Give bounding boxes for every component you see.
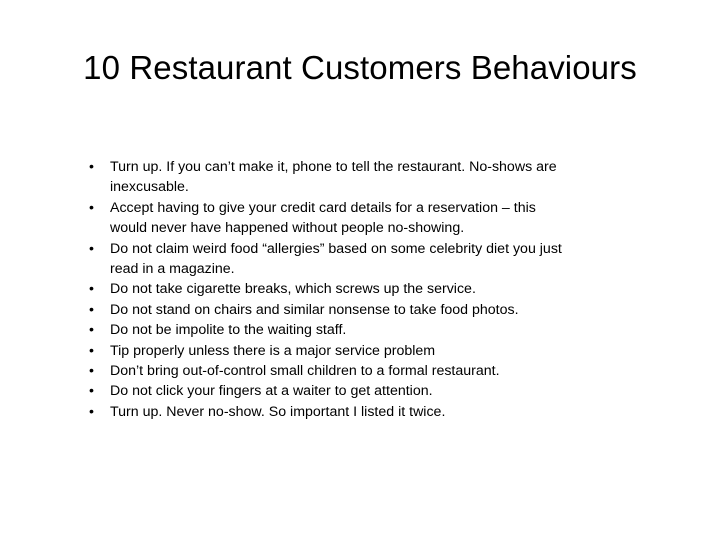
page-title: 10 Restaurant Customers Behaviours [52, 48, 668, 88]
list-item: • Don’t bring out-of-control small child… [86, 361, 656, 381]
list-item: • Do not claim weird food “allergies” ba… [86, 239, 656, 280]
bullet-point-icon: • [89, 320, 101, 340]
list-item: • Do not take cigarette breaks, which sc… [86, 279, 656, 299]
bullet-point-icon: • [89, 239, 101, 259]
list-item-text: Do not be impolite to the waiting staff. [110, 320, 656, 340]
bullet-point-icon: • [89, 198, 101, 218]
list-item-text: Do not click your fingers at a waiter to… [110, 381, 656, 401]
slide-content-body: • Turn up. If you can’t make it, phone t… [86, 157, 656, 422]
slide-canvas: 10 Restaurant Customers Behaviours • Tur… [0, 0, 720, 540]
list-item-text: Tip properly unless there is a major ser… [110, 341, 656, 361]
list-item-text: Don’t bring out-of-control small childre… [110, 361, 656, 381]
bullet-point-icon: • [89, 279, 101, 299]
bullet-list: • Turn up. If you can’t make it, phone t… [86, 157, 656, 422]
list-item: • Tip properly unless there is a major s… [86, 341, 656, 361]
bullet-point-icon: • [89, 157, 101, 177]
list-item-text: Do not take cigarette breaks, which scre… [110, 279, 656, 299]
list-item: • Do not click your fingers at a waiter … [86, 381, 656, 401]
list-item-text: Turn up. Never no-show. So important I l… [110, 402, 656, 422]
bullet-point-icon: • [89, 381, 101, 401]
list-item: • Turn up. Never no-show. So important I… [86, 402, 656, 422]
list-item-text: Turn up. If you can’t make it, phone to … [110, 157, 562, 198]
bullet-point-icon: • [89, 361, 101, 381]
bullet-point-icon: • [89, 300, 101, 320]
list-item: • Accept having to give your credit card… [86, 198, 656, 239]
list-item: • Do not be impolite to the waiting staf… [86, 320, 656, 340]
bullet-point-icon: • [89, 402, 101, 422]
list-item-text: Do not claim weird food “allergies” base… [110, 239, 565, 280]
list-item-text: Accept having to give your credit card d… [110, 198, 562, 239]
bullet-point-icon: • [89, 341, 101, 361]
list-item: • Turn up. If you can’t make it, phone t… [86, 157, 656, 198]
list-item-text: Do not stand on chairs and similar nonse… [110, 300, 656, 320]
list-item: • Do not stand on chairs and similar non… [86, 300, 656, 320]
